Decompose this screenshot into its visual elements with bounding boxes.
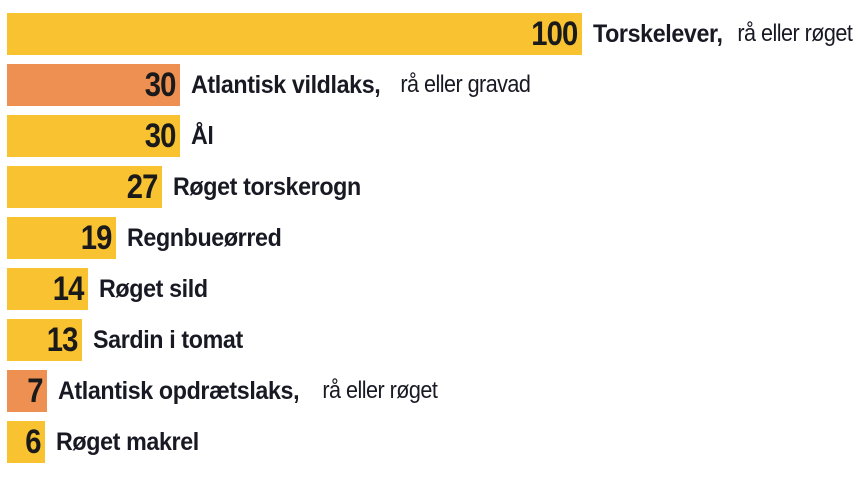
bar-category-name: Regnbueørred bbox=[127, 224, 281, 253]
bar-category-label: Røget torskerogn bbox=[162, 166, 375, 208]
bar-category-label: Regnbueørred bbox=[116, 217, 293, 259]
bar-rect: 30 bbox=[7, 115, 180, 157]
bar-value-label: 30 bbox=[145, 68, 180, 102]
bar-row: 30Atlantisk vildlaks,rå eller gravad bbox=[0, 64, 862, 106]
bar-category-label: Ål bbox=[180, 115, 215, 157]
bar-category-name: Røget sild bbox=[99, 275, 208, 304]
bar-rect: 13 bbox=[7, 319, 82, 361]
bar-category-name: Røget torskerogn bbox=[173, 173, 361, 202]
horizontal-bar-chart: 100Torskelever,rå eller røget30Atlantisk… bbox=[0, 0, 862, 479]
bar-category-qualifier: rå eller gravad bbox=[395, 71, 530, 99]
bar-row: 7Atlantisk opdrætslaks,rå eller røget bbox=[0, 370, 862, 412]
bar-rect: 14 bbox=[7, 268, 88, 310]
bar-row: 13Sardin i tomat bbox=[0, 319, 862, 361]
bar-category-label: Atlantisk opdrætslaks,rå eller røget bbox=[47, 370, 451, 412]
bar-row: 30Ål bbox=[0, 115, 862, 157]
bar-value-label: 30 bbox=[145, 119, 180, 153]
bar-rect: 6 bbox=[7, 421, 45, 463]
bar-category-label: Sardin i tomat bbox=[82, 319, 254, 361]
bar-rect: 100 bbox=[7, 13, 582, 55]
bar-category-qualifier: rå eller røget bbox=[732, 20, 852, 48]
bar-category-name: Atlantisk opdrætslaks, bbox=[58, 377, 299, 406]
bar-rect: 30 bbox=[7, 64, 180, 106]
bar-row: 19Regnbueørred bbox=[0, 217, 862, 259]
bar-value-label: 14 bbox=[53, 272, 88, 306]
bar-value-label: 27 bbox=[127, 170, 162, 204]
bar-category-name: Røget makrel bbox=[56, 428, 199, 457]
bar-category-qualifier: rå eller røget bbox=[317, 377, 437, 405]
bar-category-name: Torskelever, bbox=[593, 20, 723, 49]
bar-category-name: Sardin i tomat bbox=[93, 326, 243, 355]
bar-value-label: 13 bbox=[47, 323, 82, 357]
bar-rect: 7 bbox=[7, 370, 47, 412]
bar-category-label: Røget sild bbox=[88, 268, 216, 310]
bar-value-label: 19 bbox=[81, 221, 116, 255]
bar-value-label: 6 bbox=[25, 425, 45, 459]
bar-category-name: Ål bbox=[191, 122, 214, 151]
bar-row: 6Røget makrel bbox=[0, 421, 862, 463]
bar-value-label: 100 bbox=[531, 17, 582, 51]
bar-row: 14Røget sild bbox=[0, 268, 862, 310]
bar-category-label: Torskelever,rå eller røget bbox=[582, 13, 862, 55]
bar-rect: 27 bbox=[7, 166, 162, 208]
bar-rect: 19 bbox=[7, 217, 116, 259]
bar-row: 100Torskelever,rå eller røget bbox=[0, 13, 862, 55]
bar-category-label: Atlantisk vildlaks,rå eller gravad bbox=[180, 64, 545, 106]
bar-category-name: Atlantisk vildlaks, bbox=[191, 71, 380, 100]
bar-category-label: Røget makrel bbox=[45, 421, 210, 463]
bar-row: 27Røget torskerogn bbox=[0, 166, 862, 208]
bar-value-label: 7 bbox=[27, 374, 47, 408]
